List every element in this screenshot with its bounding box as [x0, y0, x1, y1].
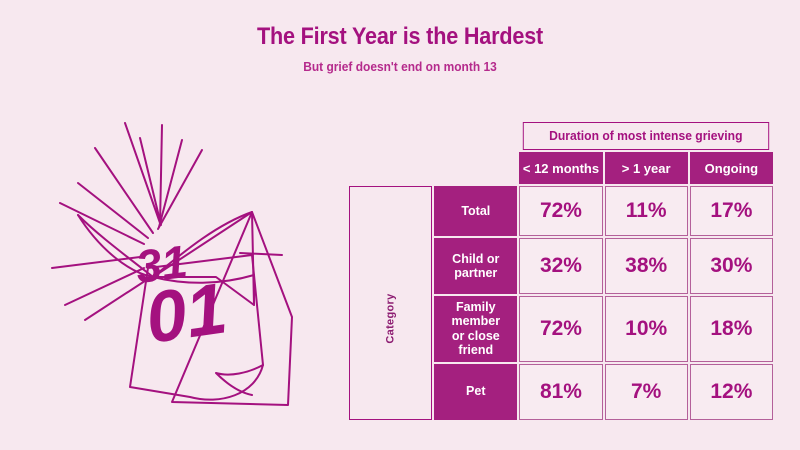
cell-pet-under-12-months: 81%: [519, 364, 602, 420]
row-label-family-member-or-close-friend: Family member or close friend: [434, 296, 517, 362]
corner-spacer-label-2: [434, 152, 517, 184]
cell-child-ongoing: 30%: [690, 238, 773, 294]
cell-child-under-12-months: 32%: [519, 238, 602, 294]
page-header: The First Year is the Hardest But grief …: [0, 24, 800, 74]
table-column-header-row: < 12 months > 1 year Ongoing: [349, 152, 773, 184]
row-label-pet: Pet: [434, 364, 517, 420]
corner-spacer-label: [434, 122, 517, 150]
cell-child-over-1-year: 38%: [605, 238, 688, 294]
grieving-duration-table: Duration of most intense grieving < 12 m…: [347, 120, 775, 414]
cell-total-under-12-months: 72%: [519, 186, 602, 236]
row-label-line-2: or close friend: [452, 329, 500, 357]
column-header-under-12-months: < 12 months: [519, 152, 602, 184]
column-group-header: Duration of most intense grieving: [523, 122, 769, 150]
cell-family-under-12-months: 72%: [519, 296, 602, 362]
cell-pet-ongoing: 12%: [690, 364, 773, 420]
corner-spacer-category-2: [349, 152, 432, 184]
cell-family-ongoing: 18%: [690, 296, 773, 362]
table-span-header-row: Duration of most intense grieving: [349, 122, 773, 150]
cell-family-over-1-year: 10%: [605, 296, 688, 362]
row-label-line-1: Family member: [451, 300, 500, 328]
cell-pet-over-1-year: 7%: [605, 364, 688, 420]
column-header-over-1-year: > 1 year: [605, 152, 688, 184]
column-header-ongoing: Ongoing: [690, 152, 773, 184]
calendar-page-tearing-illustration: 31 01: [20, 105, 330, 415]
calendar-number-01: 01: [141, 268, 231, 358]
page-subtitle: But grief doesn't end on month 13: [32, 59, 768, 74]
svg-text:01: 01: [141, 268, 231, 358]
page-title: The First Year is the Hardest: [40, 24, 760, 50]
row-label-child-or-partner: Child or partner: [434, 238, 517, 294]
corner-spacer-category: [349, 122, 432, 150]
cell-total-over-1-year: 11%: [605, 186, 688, 236]
table-row: Category Total 72% 11% 17%: [349, 186, 773, 236]
category-label-text: Category: [385, 262, 397, 343]
cell-total-ongoing: 17%: [690, 186, 773, 236]
row-label-total: Total: [434, 186, 517, 236]
row-group-label-category: Category: [349, 186, 432, 420]
